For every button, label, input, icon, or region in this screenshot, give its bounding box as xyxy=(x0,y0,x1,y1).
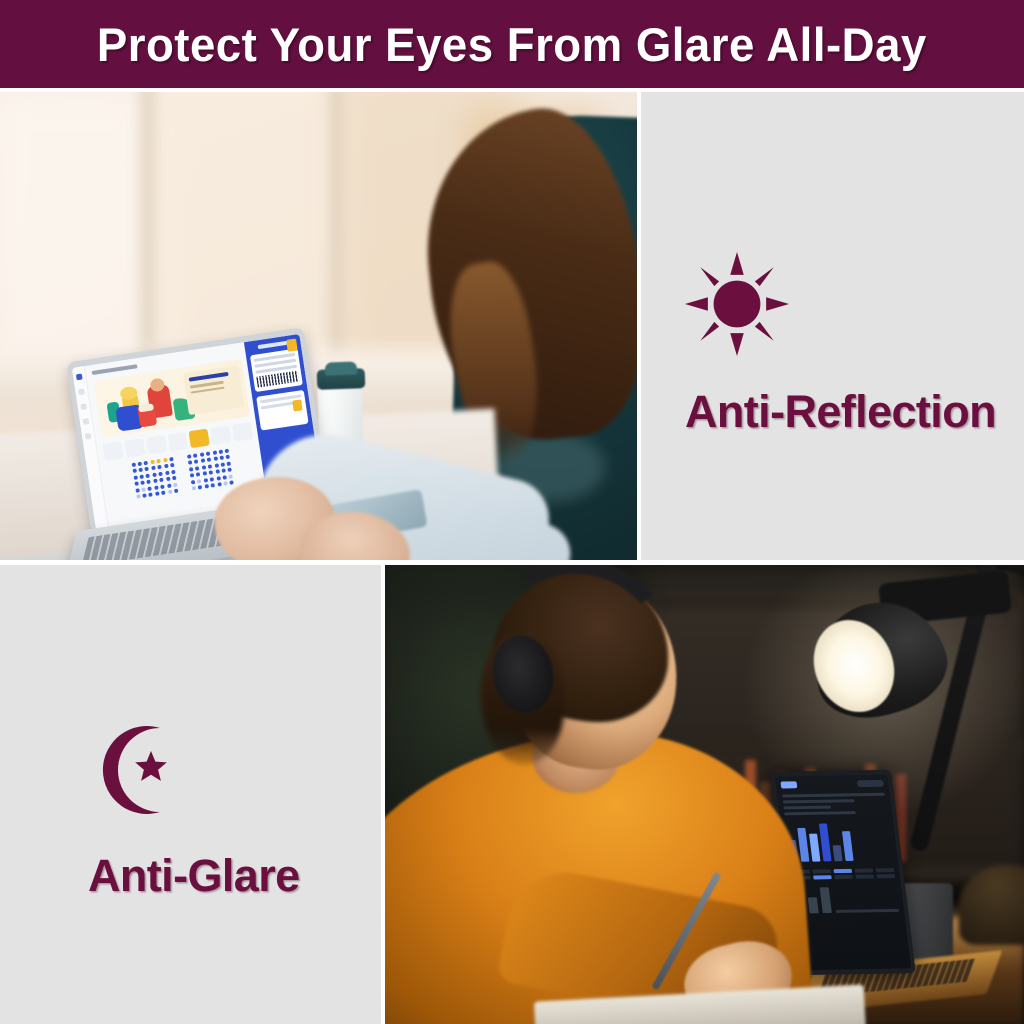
ticket-panel-title xyxy=(258,341,288,349)
dashboard-calendar-grid[interactable] xyxy=(791,868,895,880)
ticket-summary-card xyxy=(256,390,308,431)
calendar-cell[interactable] xyxy=(875,868,894,872)
tumbler-top xyxy=(325,361,357,375)
sidebar-icon-home xyxy=(76,374,83,381)
sun-icon xyxy=(685,252,789,361)
time-chip[interactable] xyxy=(146,435,167,455)
dashboard-line xyxy=(783,806,830,809)
daylight-scene xyxy=(0,92,637,560)
feature-panel-anti-reflection: Anti-Reflection xyxy=(641,92,1024,560)
calendar-cell[interactable] xyxy=(876,874,895,878)
divider-vertical-top xyxy=(637,92,641,560)
photo-daylight-desk xyxy=(0,92,637,560)
sidebar-icon-calendar xyxy=(80,403,87,410)
time-chip-selected[interactable] xyxy=(189,429,210,449)
ticket-card xyxy=(250,348,303,392)
dashboard-bar-chart xyxy=(785,820,892,861)
page-title: Protect Your Eyes From Glare All-Day xyxy=(89,21,934,68)
calendar-cell[interactable] xyxy=(854,868,873,872)
poster-root: Protect Your Eyes From Glare All-Day xyxy=(0,0,1024,1024)
photo-night-study xyxy=(385,565,1024,1024)
ticket-barcode xyxy=(256,371,299,388)
time-chip[interactable] xyxy=(232,422,253,442)
time-chip[interactable] xyxy=(211,425,232,445)
dashboard-footer xyxy=(794,886,900,914)
feature-anti-reflection: Anti-Reflection xyxy=(685,252,996,434)
night-scene xyxy=(385,565,1024,1024)
dashboard-line xyxy=(782,793,885,797)
app-breadcrumb xyxy=(92,364,138,375)
seat-block-right[interactable] xyxy=(187,449,234,491)
sidebar-icon-profile xyxy=(83,418,90,425)
divider-vertical-bottom xyxy=(381,565,385,1024)
calendar-cell-selected[interactable] xyxy=(833,868,852,872)
summary-badge-icon xyxy=(292,399,303,411)
time-chip[interactable] xyxy=(167,432,188,452)
dashboard-topbar xyxy=(780,780,883,789)
dashboard-line xyxy=(784,811,856,815)
dashboard-text-rows xyxy=(782,793,887,815)
app-info-card xyxy=(183,365,245,415)
footer-line xyxy=(836,909,900,913)
header-banner: Protect Your Eyes From Glare All-Day xyxy=(0,0,1024,88)
dashboard-action-button[interactable] xyxy=(857,780,884,787)
sidebar-icon-tickets xyxy=(78,388,85,395)
footer-bar xyxy=(808,897,819,913)
sidebar-icon-settings xyxy=(85,433,92,440)
feature-label-anti-reflection: Anti-Reflection xyxy=(685,389,996,434)
divider-horizontal xyxy=(0,560,1024,565)
feature-panel-anti-glare: Anti-Glare xyxy=(0,565,381,1024)
footer-bar xyxy=(820,887,832,913)
feature-anti-glare: Anti-Glare xyxy=(88,720,300,898)
feature-label-anti-glare: Anti-Glare xyxy=(88,853,300,898)
moon-star-icon xyxy=(88,720,188,825)
calendar-cell[interactable] xyxy=(855,875,874,879)
calendar-cell[interactable] xyxy=(834,875,853,879)
calendar-cell-selected[interactable] xyxy=(813,875,832,879)
ticket-badge-icon xyxy=(286,338,298,351)
time-chip[interactable] xyxy=(102,441,123,461)
dashboard-line xyxy=(783,799,855,803)
seat-block-left[interactable] xyxy=(131,457,178,499)
time-chip[interactable] xyxy=(124,438,145,458)
calendar-cell[interactable] xyxy=(812,869,831,873)
dashboard-logo-icon xyxy=(780,781,797,788)
